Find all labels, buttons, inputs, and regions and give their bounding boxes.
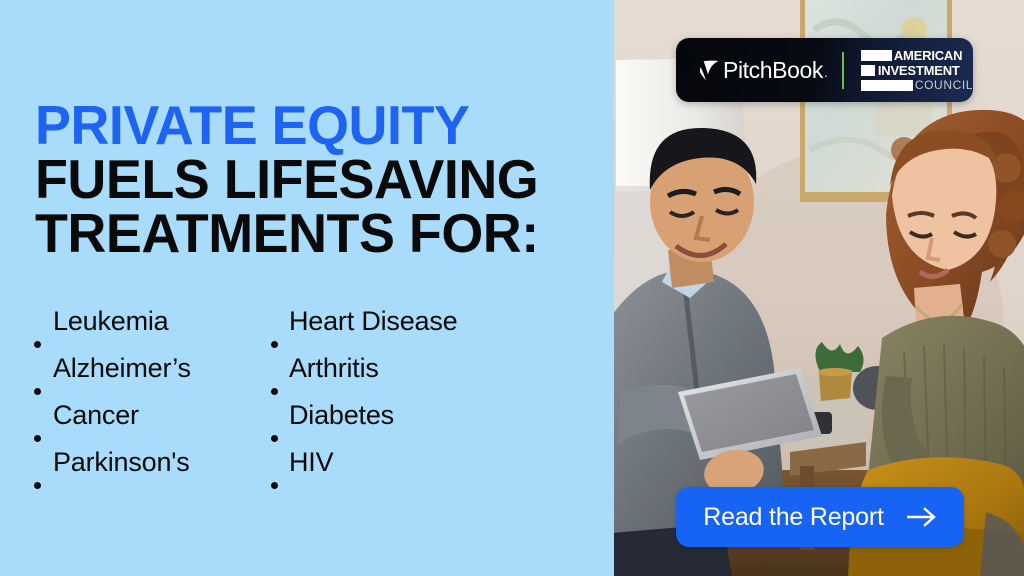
condition-label: Parkinson's [53,445,190,479]
condition-label: HIV [289,445,333,479]
pitchbook-wordmark: PitchBook [723,59,823,82]
list-item: Leukemia [30,304,267,351]
american-investment-council-logo: AMERICAN INVESTMENT COUNCIL [861,49,973,92]
condition-label: Arthritis [289,351,379,385]
aic-line-3: COUNCIL [915,79,973,92]
aic-row-investment: INVESTMENT [861,64,973,77]
aic-line-1: AMERICAN [894,49,962,62]
aic-bar [861,65,875,76]
partner-logo-badge: PitchBook . AMERICAN INVESTMENT COUNCIL [676,38,973,102]
aic-line-2: INVESTMENT [878,64,960,77]
headline-block: PRIVATE EQUITY FUELS LIFESAVING TREATMEN… [35,98,595,260]
aic-bar [861,50,892,61]
headline-line-2: FUELS LIFESAVING [35,152,584,206]
condition-list: Leukemia Alzheimer’s Cancer Parkinson's [30,304,590,492]
list-item: HIV [267,445,547,492]
aic-bar [861,80,913,91]
list-item: Diabetes [267,398,547,445]
badge-divider [842,52,844,89]
pitchbook-period: . [824,64,828,80]
list-item: Alzheimer’s [30,351,267,398]
condition-label: Alzheimer’s [53,351,191,385]
condition-label: Heart Disease [289,304,457,338]
promotional-banner: PRIVATE EQUITY FUELS LIFESAVING TREATMEN… [0,0,1024,576]
pitchbook-logo: PitchBook . [700,59,828,82]
condition-label: Cancer [53,398,139,432]
condition-label: Leukemia [53,304,168,338]
left-content-panel: PRIVATE EQUITY FUELS LIFESAVING TREATMEN… [0,0,614,576]
condition-list-column-2: Heart Disease Arthritis Diabetes HIV [267,304,547,492]
aic-row-american: AMERICAN [861,49,973,62]
list-item: Heart Disease [267,304,547,351]
arrow-right-icon [906,507,937,527]
headline-line-1: PRIVATE EQUITY [35,98,584,152]
list-item: Cancer [30,398,267,445]
headline-line-3: TREATMENTS FOR: [35,206,584,260]
pitchbook-leaf-icon [700,60,719,81]
read-the-report-button[interactable]: Read the Report [676,487,964,547]
cta-label: Read the Report [703,503,883,531]
list-item: Parkinson's [30,445,267,492]
condition-list-column-1: Leukemia Alzheimer’s Cancer Parkinson's [30,304,267,492]
condition-label: Diabetes [289,398,394,432]
list-item: Arthritis [267,351,547,398]
aic-row-council: COUNCIL [861,79,973,92]
